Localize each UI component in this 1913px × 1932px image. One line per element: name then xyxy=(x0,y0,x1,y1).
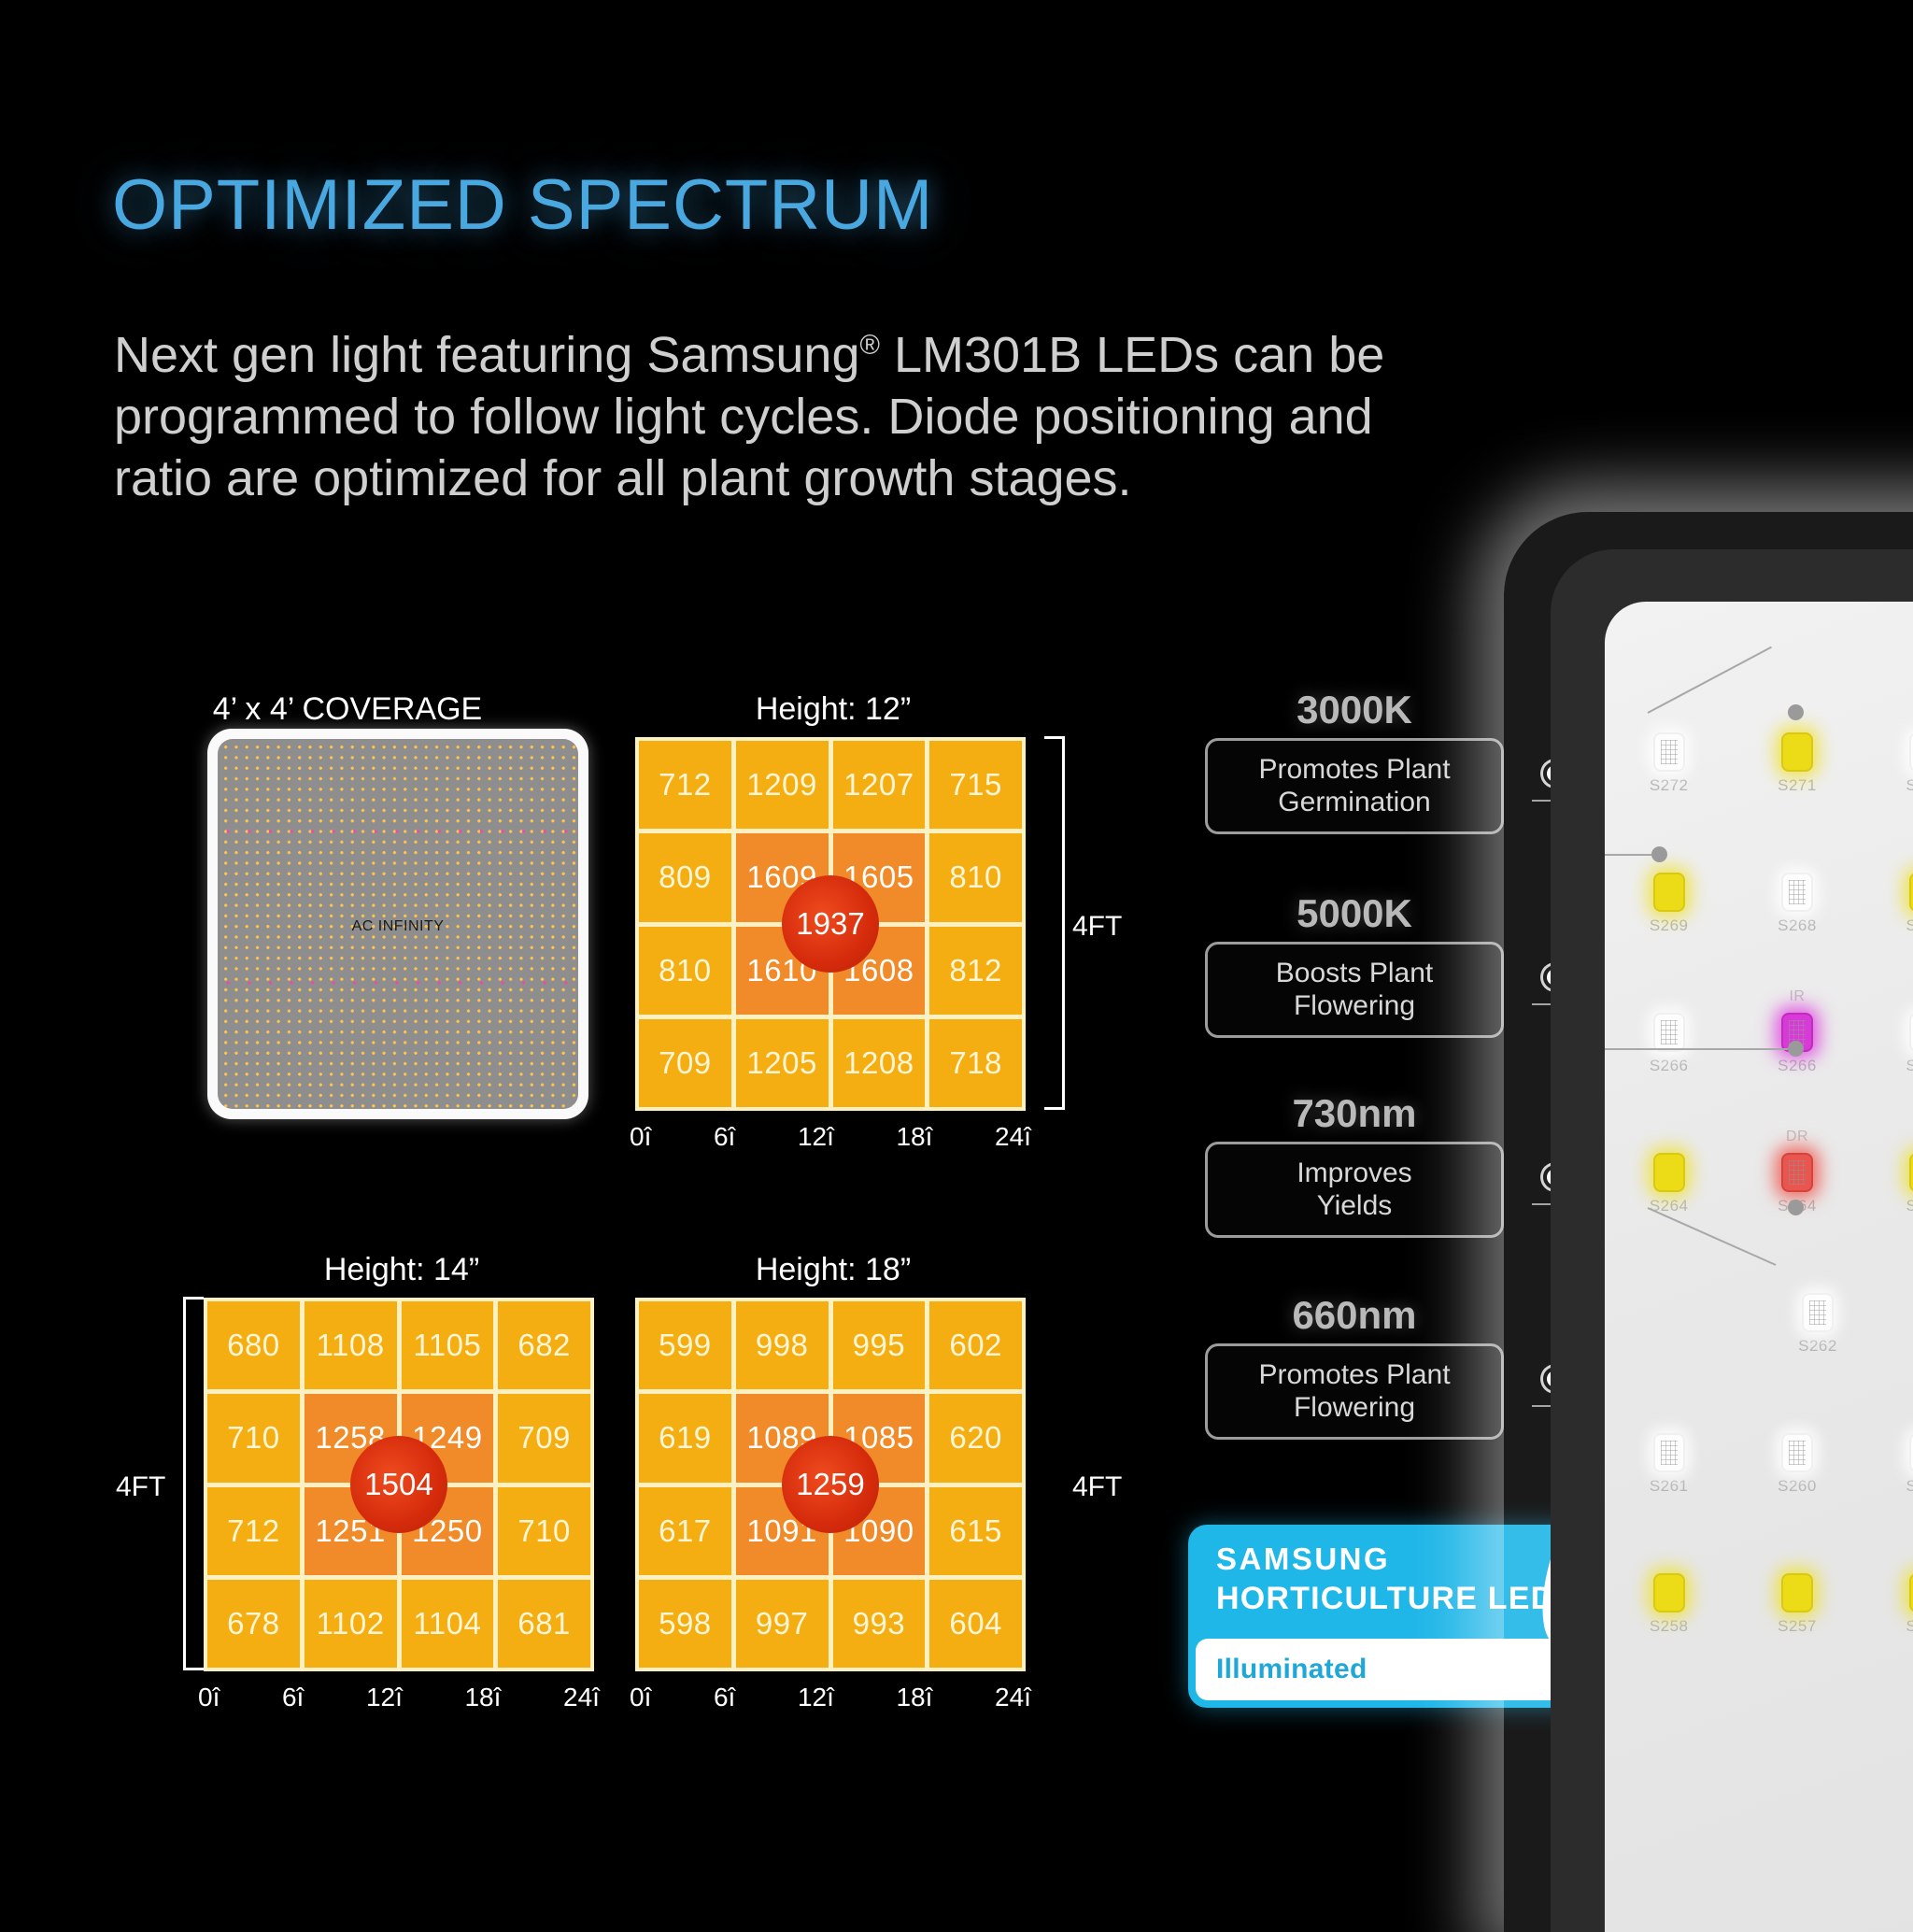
ppfd-cell: 617 xyxy=(639,1487,731,1575)
ppfd-title: Height: 12” xyxy=(635,691,1031,728)
diode-white-icon xyxy=(1781,873,1813,912)
ppfd-x-axis: 0î6î12î18î24î xyxy=(630,1683,1031,1712)
ppfd-x-axis: 0î6î12î18î24î xyxy=(630,1122,1031,1152)
ppfd-cell: 715 xyxy=(929,741,1022,829)
ppfd-cell: 998 xyxy=(736,1301,829,1389)
ppfd-cell: 598 xyxy=(639,1580,731,1668)
x-axis-tick: 0î xyxy=(630,1122,651,1152)
ppfd-cell: 710 xyxy=(498,1487,590,1575)
led-panel: S272S271S270S269S268S267S266IRS266S265S2… xyxy=(1551,549,1913,1932)
ppfd-cell: 809 xyxy=(639,833,731,921)
spectrum-callout-730nm[interactable]: 730nmImprovesYields xyxy=(1205,1091,1504,1238)
x-axis-tick: 12î xyxy=(798,1122,834,1152)
diode-label: S266 xyxy=(1733,1057,1861,1075)
diode-cell: S260 xyxy=(1733,1433,1861,1496)
ppfd-cell: 997 xyxy=(736,1580,829,1668)
diode-tag: DR xyxy=(1733,1129,1861,1145)
diode-warm-icon xyxy=(1909,873,1913,912)
diode-cell: S267 xyxy=(1862,873,1913,935)
ppfd-cell: 1102 xyxy=(305,1580,397,1668)
spectrum-pill[interactable]: Promotes PlantFlowering xyxy=(1205,1343,1504,1440)
diode-warm-icon xyxy=(1909,1573,1913,1612)
scale-label-18in: 4FT xyxy=(1072,1471,1122,1503)
diode-tag: IR xyxy=(1733,988,1861,1005)
diode-label: S256 xyxy=(1862,1617,1913,1636)
deep-red-diode-row xyxy=(218,830,578,833)
ppfd-cell: 1105 xyxy=(402,1301,494,1389)
ppfd-chart-14in: Height: 14”68011081105682710125812497097… xyxy=(204,1252,600,1712)
scale-label-14in: 4FT xyxy=(116,1471,165,1503)
x-axis-tick: 12î xyxy=(366,1683,403,1712)
ppfd-center-value: 1504 xyxy=(350,1436,447,1533)
spectrum-pill-line1: Improves xyxy=(1217,1158,1492,1190)
badge-status-text: Illuminated xyxy=(1216,1654,1367,1685)
diode-warm-icon xyxy=(1781,1573,1813,1612)
diode-row: S269S268S267 xyxy=(1605,873,1913,935)
diode-white-icon xyxy=(1909,1433,1913,1472)
coverage-title: 4’ x 4’ COVERAGE xyxy=(161,691,534,728)
ppfd-cell: 615 xyxy=(929,1487,1022,1575)
diode-cell: S263 xyxy=(1862,1153,1913,1215)
diode-white-icon xyxy=(1909,1013,1913,1052)
diode-warm-icon xyxy=(1653,873,1685,912)
diode-warm-icon xyxy=(1653,1573,1685,1612)
diode-cell: S268 xyxy=(1733,873,1861,935)
ppfd-cell: 1104 xyxy=(402,1580,494,1668)
spectrum-callout-660nm[interactable]: 660nmPromotes PlantFlowering xyxy=(1205,1293,1504,1440)
diode-label: S258 xyxy=(1605,1617,1733,1636)
diode-label: S259 xyxy=(1862,1477,1913,1496)
ppfd-cell: 993 xyxy=(833,1580,926,1668)
diode-warm-icon xyxy=(1653,1153,1685,1192)
diode-warm-icon xyxy=(1781,732,1813,772)
diode-cell: S258 xyxy=(1605,1573,1733,1636)
diode-cell: S257 xyxy=(1733,1573,1861,1636)
ppfd-cell: 712 xyxy=(207,1487,300,1575)
coverage-board-surface: AC INFINITY xyxy=(218,739,578,1109)
spectrum-pill-line2: Flowering xyxy=(1217,1392,1492,1425)
diode-label: S264 xyxy=(1605,1197,1733,1215)
diode-cell: S259 xyxy=(1862,1433,1913,1496)
x-axis-tick: 24î xyxy=(995,1683,1031,1712)
diode-label: S257 xyxy=(1733,1617,1861,1636)
intro-part-a: Next gen light featuring Samsung xyxy=(114,327,859,383)
diode-warm-icon xyxy=(1909,1153,1913,1192)
diode-row: S266IRS266S265 xyxy=(1605,1013,1913,1075)
diode-cell: S266 xyxy=(1605,1013,1733,1075)
spectrum-kelvin-label: 5000K xyxy=(1205,891,1504,936)
spectrum-pill[interactable]: ImprovesYields xyxy=(1205,1142,1504,1238)
ppfd-cell: 1207 xyxy=(833,741,926,829)
x-axis-tick: 6î xyxy=(282,1683,304,1712)
diode-label: S262 xyxy=(1747,1337,1889,1356)
diode-cell: S256 xyxy=(1862,1573,1913,1636)
ppfd-cell: 1209 xyxy=(736,741,829,829)
ppfd-cell: 620 xyxy=(929,1394,1022,1482)
spectrum-kelvin-label: 3000K xyxy=(1205,688,1504,732)
ppfd-cell: 599 xyxy=(639,1301,731,1389)
diode-label: S263 xyxy=(1862,1197,1913,1215)
diode-leader-wire xyxy=(1648,1207,1777,1266)
x-axis-tick: 18î xyxy=(896,1122,932,1152)
intro-paragraph: Next gen light featuring Samsung® LM301B… xyxy=(114,325,1422,510)
diode-cell: S265 xyxy=(1862,1013,1913,1075)
diode-label: S268 xyxy=(1733,916,1861,935)
spectrum-pill[interactable]: Boosts PlantFlowering xyxy=(1205,942,1504,1038)
diode-cell: S272 xyxy=(1605,732,1733,795)
diode-row: S261S260S259 xyxy=(1605,1433,1913,1496)
x-axis-tick: 0î xyxy=(198,1683,220,1712)
scale-bracket-14in xyxy=(183,1297,204,1670)
diode-cell: S261 xyxy=(1605,1433,1733,1496)
spectrum-pill-line1: Promotes Plant xyxy=(1217,1359,1492,1392)
diode-row: S258S257S256 xyxy=(1605,1573,1913,1636)
diode-leader-wire xyxy=(1648,646,1772,714)
ppfd-grid: 6801108110568271012581249709712125112507… xyxy=(204,1298,594,1671)
spectrum-pill-line2: Flowering xyxy=(1217,990,1492,1023)
diode-cell: S264 xyxy=(1605,1153,1733,1215)
ppfd-cell: 810 xyxy=(639,927,731,1015)
ppfd-cell: 619 xyxy=(639,1394,731,1482)
diode-label: S260 xyxy=(1733,1477,1861,1496)
ppfd-cell: 709 xyxy=(498,1394,590,1482)
ppfd-cell: 712 xyxy=(639,741,731,829)
x-axis-tick: 24î xyxy=(995,1122,1031,1152)
ppfd-cell: 681 xyxy=(498,1580,590,1668)
page-title: OPTIMIZED SPECTRUM xyxy=(112,164,933,246)
diode-cell: S270 xyxy=(1862,732,1913,795)
ppfd-cell: 1208 xyxy=(833,1019,926,1107)
registered-mark: ® xyxy=(859,331,879,361)
x-axis-tick: 18î xyxy=(464,1683,501,1712)
ppfd-title: Height: 18” xyxy=(635,1252,1031,1288)
x-axis-tick: 0î xyxy=(630,1683,651,1712)
diode-label: S266 xyxy=(1605,1057,1733,1075)
diode-label: S267 xyxy=(1862,916,1913,935)
ppfd-cell: 1205 xyxy=(736,1019,829,1107)
diode-leader-nub xyxy=(1788,1041,1804,1057)
ppfd-cell: 710 xyxy=(207,1394,300,1482)
spectrum-pill-line2: Germination xyxy=(1217,787,1492,819)
diode-leader-wire xyxy=(1605,1048,1788,1050)
ppfd-cell: 812 xyxy=(929,927,1022,1015)
spectrum-pill-line2: Yields xyxy=(1217,1190,1492,1223)
ppfd-cell: 995 xyxy=(833,1301,926,1389)
diode-label: S271 xyxy=(1733,776,1861,795)
diode-white-icon xyxy=(1653,1433,1685,1472)
diode-label: S270 xyxy=(1862,776,1913,795)
x-axis-tick: 6î xyxy=(714,1122,735,1152)
diode-leader-nub xyxy=(1788,1200,1804,1215)
brand-mark: AC INFINITY xyxy=(218,918,578,935)
diode-label: S269 xyxy=(1605,916,1733,935)
diode-row: S262 xyxy=(1605,1293,1913,1356)
diode-label: S261 xyxy=(1605,1477,1733,1496)
diode-leader-wire xyxy=(1605,854,1651,856)
ppfd-cell: 709 xyxy=(639,1019,731,1107)
ppfd-cell: 1108 xyxy=(305,1301,397,1389)
diode-row: S264DRS264S263 xyxy=(1605,1153,1913,1215)
x-axis-tick: 18î xyxy=(896,1683,932,1712)
scale-bracket-12in xyxy=(1044,736,1065,1110)
diode-leader-nub xyxy=(1788,704,1804,720)
spectrum-kelvin-label: 730nm xyxy=(1205,1091,1504,1136)
scale-label-12in: 4FT xyxy=(1072,911,1122,943)
diode-row: S272S271S270 xyxy=(1605,732,1913,795)
ppfd-center-value: 1259 xyxy=(782,1436,879,1533)
diode-dr-icon xyxy=(1781,1153,1813,1192)
diode-white-icon xyxy=(1909,732,1913,772)
ppfd-grid: 5999989956026191089108562061710911090615… xyxy=(635,1298,1026,1671)
spectrum-callout-3000k[interactable]: 3000KPromotes PlantGermination xyxy=(1205,688,1504,834)
diode-white-icon xyxy=(1653,732,1685,772)
ppfd-cell: 682 xyxy=(498,1301,590,1389)
ppfd-title: Height: 14” xyxy=(204,1252,600,1288)
ppfd-cell: 604 xyxy=(929,1580,1022,1668)
x-axis-tick: 12î xyxy=(798,1683,834,1712)
x-axis-tick: 6î xyxy=(714,1683,735,1712)
ppfd-cell: 718 xyxy=(929,1019,1022,1107)
deep-red-diode-row xyxy=(218,981,578,985)
ppfd-center-value: 1937 xyxy=(782,875,879,973)
spectrum-pill[interactable]: Promotes PlantGermination xyxy=(1205,738,1504,834)
spectrum-callout-5000k[interactable]: 5000KBoosts PlantFlowering xyxy=(1205,891,1504,1038)
diode-label: S272 xyxy=(1605,776,1733,795)
ppfd-grid: 7121209120771580916091605810810161016088… xyxy=(635,737,1026,1111)
ppfd-x-axis: 0î6î12î18î24î xyxy=(198,1683,600,1712)
spectrum-kelvin-label: 660nm xyxy=(1205,1293,1504,1338)
x-axis-tick: 24î xyxy=(563,1683,600,1712)
diode-leader-nub xyxy=(1651,846,1667,862)
diode-cell: S269 xyxy=(1605,873,1733,935)
diode-cell: S271 xyxy=(1733,732,1861,795)
coverage-board: AC INFINITY xyxy=(207,729,588,1119)
diode-white-icon xyxy=(1653,1013,1685,1052)
spectrum-pill-line1: Boosts Plant xyxy=(1217,958,1492,990)
ppfd-cell: 680 xyxy=(207,1301,300,1389)
diode-white-icon xyxy=(1802,1293,1834,1332)
ppfd-cell: 810 xyxy=(929,833,1022,921)
diode-white-icon xyxy=(1781,1433,1813,1472)
ppfd-chart-18in: Height: 18”59999899560261910891085620617… xyxy=(635,1252,1031,1712)
diode-label: S265 xyxy=(1862,1057,1913,1075)
led-panel-face: S272S271S270S269S268S267S266IRS266S265S2… xyxy=(1605,602,1913,1932)
diode-cell: S262 xyxy=(1747,1293,1889,1356)
ppfd-cell: 602 xyxy=(929,1301,1022,1389)
spectrum-pill-line1: Promotes Plant xyxy=(1217,754,1492,787)
ppfd-cell: 678 xyxy=(207,1580,300,1668)
ppfd-chart-12in: Height: 12”71212091207715809160916058108… xyxy=(635,691,1031,1152)
